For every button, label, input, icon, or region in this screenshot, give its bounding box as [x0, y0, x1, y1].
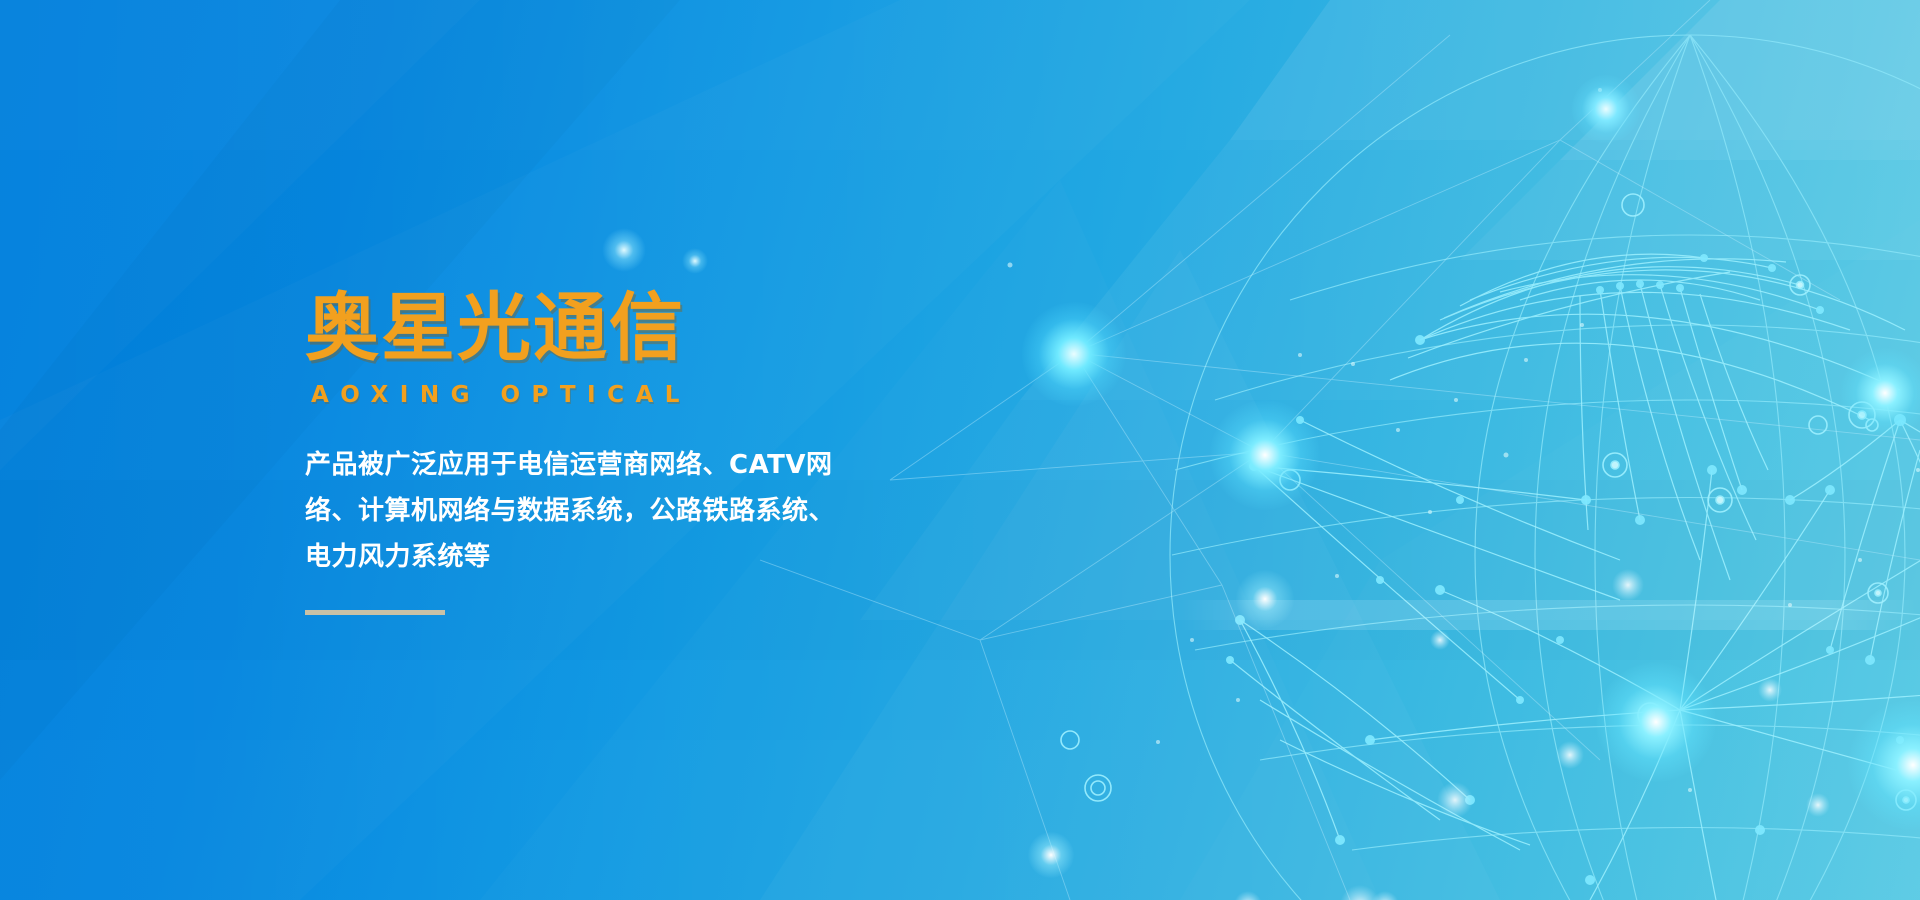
description-line-2: 络、计算机网络与数据系统，公路铁路系统、 [305, 488, 945, 534]
description-line-1: 产品被广泛应用于电信运营商网络、CATV网 [305, 442, 945, 488]
accent-divider [305, 610, 445, 615]
brand-title: 奥星光通信 [305, 290, 1025, 368]
banner-description: 产品被广泛应用于电信运营商网络、CATV网 络、计算机网络与数据系统，公路铁路系… [305, 442, 945, 581]
banner-content: 奥星光通信 AOXING OPTICAL 产品被广泛应用于电信运营商网络、CAT… [305, 290, 1025, 615]
description-line-3: 电力风力系统等 [305, 534, 945, 580]
brand-subtitle: AOXING OPTICAL [311, 382, 1025, 408]
hero-banner: 奥星光通信 AOXING OPTICAL 产品被广泛应用于电信运营商网络、CAT… [0, 0, 1920, 900]
